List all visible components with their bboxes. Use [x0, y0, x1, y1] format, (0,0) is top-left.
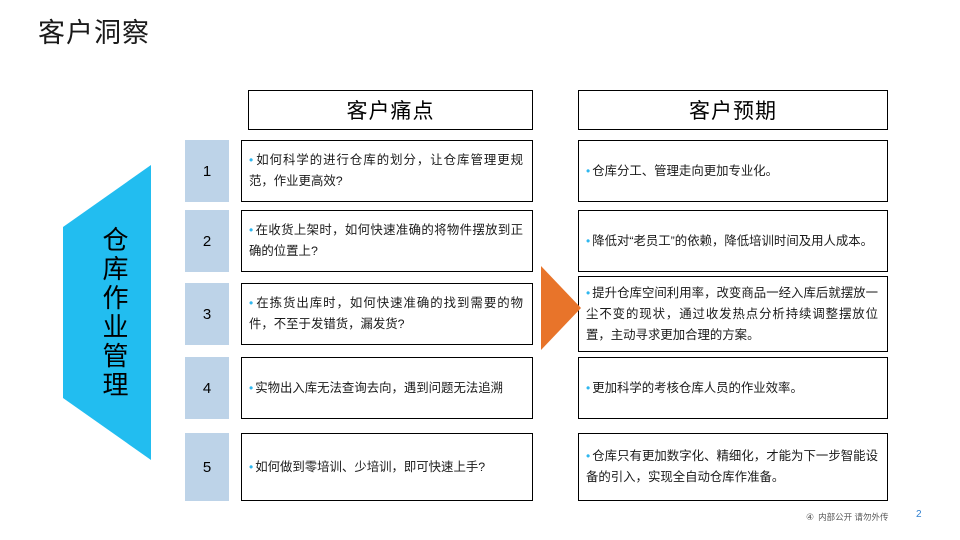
pain-point-box: •在收货上架时，如何快速准确的将物件摆放到正确的位置上?: [241, 210, 533, 272]
confidentiality-text: 内部公开 请勿外传: [818, 511, 888, 523]
pain-point-text-wrap: •在拣货出库时，如何快速准确的找到需要的物件，不至于发错货，漏发货?: [249, 293, 523, 335]
expectation-box: •仓库只有更加数字化、精细化，才能为下一步智能设备的引入，实现全自动仓库作准备。: [578, 433, 888, 501]
bullet-icon: •: [249, 460, 253, 474]
bullet-icon: •: [249, 296, 253, 310]
column-header-expectations: 客户预期: [578, 90, 888, 130]
expectation-text-wrap: •仓库只有更加数字化、精细化，才能为下一步智能设备的引入，实现全自动仓库作准备。: [586, 446, 878, 488]
process-banner: 仓库作业管理: [63, 165, 151, 460]
bullet-icon: •: [586, 449, 590, 463]
expectation-text: 提升仓库空间利用率，改变商品一经入库后就摆放一尘不变的现状，通过收发热点分析持续…: [586, 286, 878, 342]
pain-point-box: •如何做到零培训、少培训，即可快速上手?: [241, 433, 533, 501]
column-header-pain-points: 客户痛点: [248, 90, 533, 130]
pain-point-box: •实物出入库无法查询去向，遇到问题无法追溯: [241, 357, 533, 419]
footer-confidentiality: ④ 内部公开 请勿外传: [806, 511, 888, 523]
expectation-text-wrap: •提升仓库空间利用率，改变商品一经入库后就摆放一尘不变的现状，通过收发热点分析持…: [586, 283, 878, 346]
right-triangle-arrow-icon: [541, 266, 581, 350]
pain-point-text: 如何科学的进行仓库的划分，让仓库管理更规范，作业更高效?: [249, 153, 523, 188]
bullet-icon: •: [249, 381, 253, 395]
slide-canvas: 客户洞察 仓库作业管理 客户痛点 客户预期 1 •如何科学的进行仓库的划分，让仓…: [0, 0, 960, 540]
bullet-icon: •: [586, 234, 590, 248]
expectation-text: 降低对“老员工”的依赖，降低培训时间及用人成本。: [592, 234, 873, 248]
pain-point-text: 在拣货出库时，如何快速准确的找到需要的物件，不至于发错货，漏发货?: [249, 296, 523, 331]
bullet-icon: •: [249, 223, 253, 237]
pain-point-text-wrap: •如何科学的进行仓库的划分，让仓库管理更规范，作业更高效?: [249, 150, 523, 192]
expectation-text-wrap: •更加科学的考核仓库人员的作业效率。: [586, 378, 803, 399]
pain-point-box: •如何科学的进行仓库的划分，让仓库管理更规范，作业更高效?: [241, 140, 533, 202]
expectation-box: •提升仓库空间利用率，改变商品一经入库后就摆放一尘不变的现状，通过收发热点分析持…: [578, 276, 888, 352]
page-title: 客户洞察: [38, 16, 150, 50]
process-banner-label: 仓库作业管理: [94, 226, 134, 400]
expectation-box: •仓库分工、管理走向更加专业化。: [578, 140, 888, 202]
row-number-badge: 5: [185, 433, 229, 501]
expectation-text: 更加科学的考核仓库人员的作业效率。: [592, 381, 803, 395]
expectation-text: 仓库只有更加数字化、精细化，才能为下一步智能设备的引入，实现全自动仓库作准备。: [586, 449, 878, 484]
process-banner-label-wrap: 仓库作业管理: [63, 165, 151, 460]
pain-point-text: 实物出入库无法查询去向，遇到问题无法追溯: [255, 381, 503, 395]
expectation-box: •降低对“老员工”的依赖，降低培训时间及用人成本。: [578, 210, 888, 272]
expectation-box: •更加科学的考核仓库人员的作业效率。: [578, 357, 888, 419]
row-number-badge: 3: [185, 283, 229, 345]
bullet-icon: •: [586, 381, 590, 395]
bullet-icon: •: [249, 153, 253, 167]
expectation-text: 仓库分工、管理走向更加专业化。: [592, 164, 778, 178]
row-number-badge: 1: [185, 140, 229, 202]
pain-point-text: 如何做到零培训、少培训，即可快速上手?: [255, 460, 485, 474]
pain-point-box: •在拣货出库时，如何快速准确的找到需要的物件，不至于发错货，漏发货?: [241, 283, 533, 345]
pain-point-text-wrap: •在收货上架时，如何快速准确的将物件摆放到正确的位置上?: [249, 220, 523, 262]
page-number: 2: [916, 509, 922, 520]
expectation-text-wrap: •仓库分工、管理走向更加专业化。: [586, 161, 778, 182]
row-number-badge: 4: [185, 357, 229, 419]
bullet-icon: •: [586, 164, 590, 178]
expectation-text-wrap: •降低对“老员工”的依赖，降低培训时间及用人成本。: [586, 231, 873, 252]
pain-point-text-wrap: •如何做到零培训、少培训，即可快速上手?: [249, 457, 485, 478]
row-number-badge: 2: [185, 210, 229, 272]
pain-point-text-wrap: •实物出入库无法查询去向，遇到问题无法追溯: [249, 378, 503, 399]
pain-point-text: 在收货上架时，如何快速准确的将物件摆放到正确的位置上?: [249, 223, 523, 258]
confidentiality-mark-icon: ④: [806, 512, 814, 523]
bullet-icon: •: [586, 286, 590, 300]
